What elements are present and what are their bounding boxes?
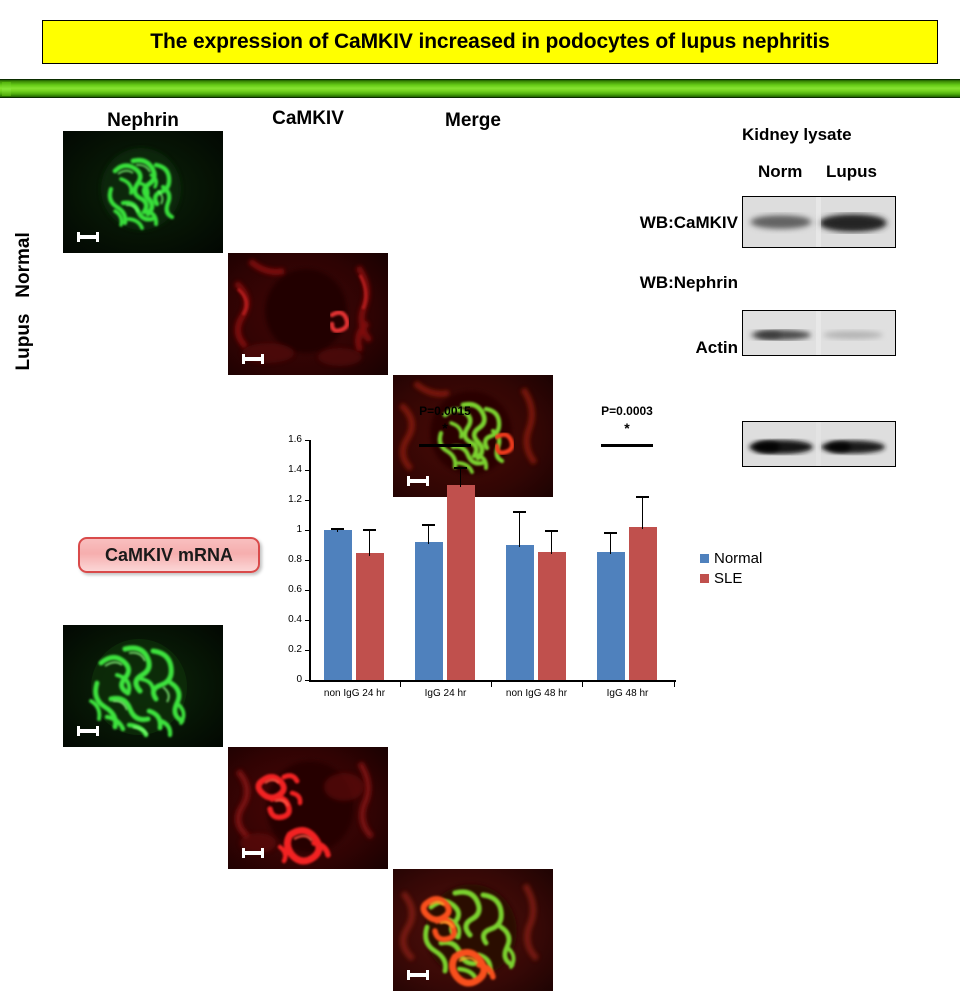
micro-image-normal-camkiv (228, 253, 388, 375)
error-cap-sle-group3 (545, 530, 558, 532)
legend-item-normal: Normal (700, 548, 762, 568)
scale-bar (77, 729, 99, 733)
chart-y-axis (309, 440, 311, 681)
legend-label-sle: SLE (714, 571, 742, 586)
y-tick-label: 1.4 (276, 465, 302, 475)
y-tick-label: 1.6 (276, 435, 302, 445)
significance-star-group2: * (389, 422, 501, 434)
wb-nephrin-bands (743, 311, 895, 355)
wb-band-box-camkiv (742, 196, 896, 248)
figure-title-box: The expression of CaMKIV increased in po… (42, 20, 938, 64)
y-tick-label: 1 (276, 525, 302, 535)
wb-band-box-actin (742, 421, 896, 467)
p-value-label-group2: P=0.0015 (389, 404, 501, 418)
wb-lane-header-lupus: Lupus (826, 162, 877, 182)
error-bar-sle-group1 (369, 530, 370, 556)
microscopy-panel: Nephrin CaMKIV Merge Normal Lupus (0, 104, 600, 394)
wb-actin-bands (743, 422, 895, 466)
micro-row-label-lupus: Lupus (13, 297, 35, 387)
micro-image-lupus-camkiv (228, 747, 388, 869)
x-tick-mark (674, 682, 675, 687)
western-blot-panel: Kidney lysate Norm Lupus WB:CaMKIV WB:Ne… (590, 118, 960, 388)
wb-row-label-nephrin: WB:Nephrin (590, 273, 738, 293)
micro-row-label-lupus-wrap: Lupus (0, 331, 69, 355)
error-cap-normal-group1 (331, 528, 344, 530)
x-category-label: IgG 24 hr (400, 688, 491, 699)
error-bar-normal-group2 (428, 525, 429, 544)
micro-image-lupus-merge (393, 869, 553, 991)
bar-sle-group2 (447, 485, 475, 680)
camkiv-mrna-bar-chart: 1.6 1.4 1.2 1 0.8 0.6 0.4 0.2 0 (276, 404, 696, 720)
error-cap-normal-group2 (422, 524, 435, 526)
micro-row-label-normal-wrap: Normal (0, 254, 69, 278)
micro-image-lupus-nephrin (63, 625, 223, 747)
chart-legend: Normal SLE (700, 548, 762, 588)
y-tick-label: 1.2 (276, 495, 302, 505)
bar-normal-group2 (415, 542, 443, 680)
wb-band-box-nephrin (742, 310, 896, 356)
legend-swatch-normal (700, 554, 709, 563)
scale-bar (242, 357, 264, 361)
wb-lane-header-norm: Norm (758, 162, 802, 182)
micro-column-header-nephrin: Nephrin (63, 110, 223, 132)
bar-sle-group1 (356, 553, 384, 680)
bar-normal-group4 (597, 552, 625, 680)
x-tick-mark (491, 682, 492, 687)
camkiv-mrna-label: CaMKIV mRNA (105, 545, 233, 566)
error-bar-normal-group4 (610, 533, 611, 554)
green-divider-bar (0, 79, 960, 98)
significance-line-group2 (419, 444, 471, 447)
error-cap-sle-group1 (363, 529, 376, 531)
x-tick-mark (400, 682, 401, 687)
scale-bar (407, 973, 429, 977)
significance-star-group4: * (571, 422, 683, 434)
chart-x-axis (309, 680, 676, 682)
p-value-label-group4: P=0.0003 (571, 404, 683, 418)
significance-line-group4 (601, 444, 653, 447)
wb-row-label-camkiv: WB:CaMKIV (590, 213, 738, 233)
bar-normal-group3 (506, 545, 534, 680)
y-tick-label: 0.4 (276, 615, 302, 625)
y-tick-label: 0.6 (276, 585, 302, 595)
wb-camkiv-bands (743, 197, 895, 247)
y-tick-label: 0.2 (276, 645, 302, 655)
wb-row-label-actin: Actin (590, 338, 738, 358)
micro-column-header-merge: Merge (393, 110, 553, 132)
error-cap-sle-group2 (454, 467, 467, 469)
error-bar-sle-group2 (460, 468, 461, 487)
x-category-label: non IgG 24 hr (309, 688, 400, 699)
error-cap-normal-group3 (513, 511, 526, 513)
legend-item-sle: SLE (700, 568, 762, 588)
scale-bar (242, 851, 264, 855)
error-bar-sle-group3 (551, 531, 552, 554)
legend-label-normal: Normal (714, 551, 762, 566)
error-bar-normal-group3 (519, 512, 520, 547)
x-category-label: IgG 48 hr (582, 688, 673, 699)
scale-bar (77, 235, 99, 239)
wb-panel-title: Kidney lysate (742, 125, 852, 145)
error-bar-sle-group4 (642, 497, 643, 529)
camkiv-mrna-callout: CaMKIV mRNA (78, 537, 260, 573)
y-tick-label: 0 (276, 675, 302, 685)
figure-title-text: The expression of CaMKIV increased in po… (150, 30, 830, 54)
legend-swatch-sle (700, 574, 709, 583)
divider-end-cap (2, 82, 11, 96)
bar-normal-group1 (324, 530, 352, 680)
micro-image-normal-nephrin (63, 131, 223, 253)
bar-sle-group3 (538, 552, 566, 680)
y-tick-label: 0.8 (276, 555, 302, 565)
x-category-label: non IgG 48 hr (491, 688, 582, 699)
x-tick-mark (582, 682, 583, 687)
bar-sle-group4 (629, 527, 657, 680)
error-cap-normal-group4 (604, 532, 617, 534)
micro-column-header-camkiv: CaMKIV (228, 108, 388, 130)
error-cap-sle-group4 (636, 496, 649, 498)
